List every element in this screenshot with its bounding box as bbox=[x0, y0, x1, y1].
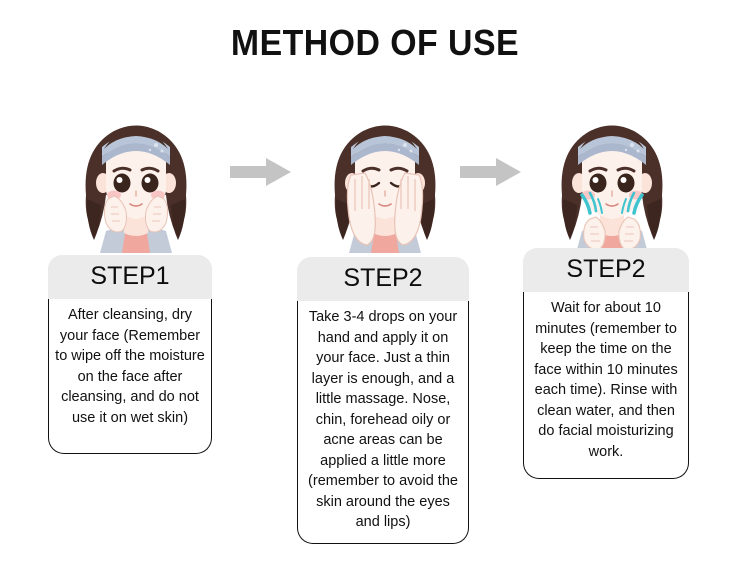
step-2-body: Take 3-4 drops on your hand and apply it… bbox=[297, 301, 469, 544]
arrow-step1-to-step2 bbox=[230, 157, 292, 187]
step-3-header: STEP2 bbox=[523, 248, 689, 292]
step-3-body: Wait for about 10 minutes (remember to k… bbox=[523, 292, 689, 479]
page-title: METHOD OF USE bbox=[23, 22, 728, 64]
illustration-step-3 bbox=[532, 103, 692, 253]
arrow-step2-to-step3 bbox=[460, 157, 522, 187]
step-card-2: STEP2 Take 3-4 drops on your hand and ap… bbox=[297, 257, 469, 544]
step-card-3: STEP2 Wait for about 10 minutes (remembe… bbox=[523, 248, 689, 479]
step-1-header: STEP1 bbox=[48, 255, 212, 299]
illustration-step-2 bbox=[305, 103, 465, 253]
step-card-1: STEP1 After cleansing, dry your face (Re… bbox=[48, 255, 212, 454]
illustration-step-1 bbox=[56, 103, 216, 253]
step-1-body: After cleansing, dry your face (Remember… bbox=[48, 299, 212, 454]
step-2-header: STEP2 bbox=[297, 257, 469, 301]
